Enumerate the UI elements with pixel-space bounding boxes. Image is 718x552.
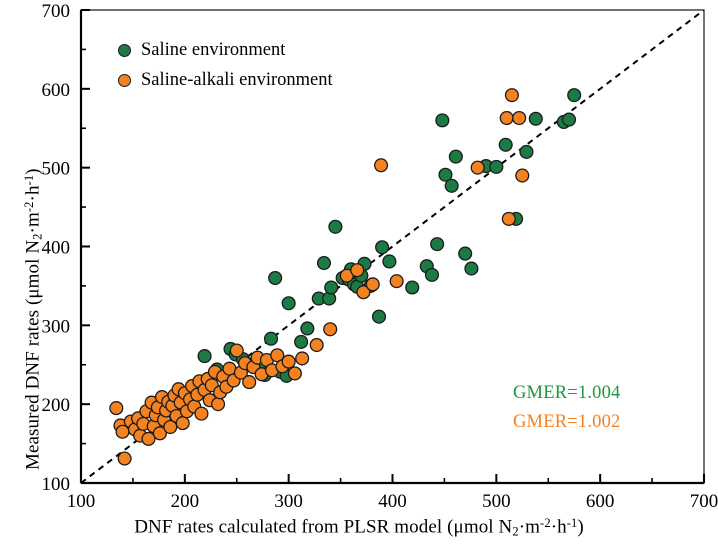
y-axis-title-sub-n2: 2 <box>30 233 44 239</box>
data-point <box>195 407 208 420</box>
y-tick-label: 200 <box>42 395 71 416</box>
series-points-saline <box>198 89 580 382</box>
data-point <box>282 297 295 310</box>
x-tick-label: 500 <box>482 491 511 512</box>
data-point <box>288 367 301 380</box>
y-axis-title-sup-h: -1 <box>22 175 36 186</box>
legend-label-saline: Saline environment <box>141 41 285 60</box>
x-axis-title-tail: ) <box>577 517 583 538</box>
annotation-gmer-saline-alkali: GMER=1.002 <box>513 412 621 433</box>
x-axis-title-main: DNF rates calculated from PLSR model (μm… <box>134 517 512 538</box>
x-axis-title-mid: ·m <box>519 517 540 538</box>
data-point <box>406 281 419 294</box>
data-point <box>351 264 364 277</box>
y-tick-label: 500 <box>42 159 71 180</box>
legend-item-saline-alkali: Saline-alkali environment <box>118 71 333 90</box>
data-point <box>324 323 337 336</box>
data-point <box>506 89 519 102</box>
data-point <box>282 355 295 368</box>
data-point <box>176 417 189 430</box>
x-tick-label: 400 <box>378 491 407 512</box>
data-point <box>431 238 444 251</box>
data-point <box>318 257 331 270</box>
legend-marker-saline-alkali-icon <box>118 74 131 87</box>
legend-label-saline-alkali: Saline-alkali environment <box>141 71 333 90</box>
y-tick-label: 600 <box>42 80 71 101</box>
x-tick-label: 700 <box>690 491 718 512</box>
y-axis-title-mid: ·m <box>23 212 44 233</box>
x-axis-title-mid2: ·h <box>551 517 567 538</box>
data-point <box>513 112 526 125</box>
y-tick-label: 100 <box>42 474 71 495</box>
data-point <box>296 352 309 365</box>
data-point <box>110 402 123 415</box>
data-point <box>366 278 379 291</box>
legend-item-saline: Saline environment <box>118 41 285 60</box>
data-point <box>265 332 278 345</box>
x-tick-label: 200 <box>171 491 200 512</box>
data-point <box>520 146 533 159</box>
y-axis-title-tail: ) <box>23 168 44 174</box>
y-axis-title-main: Measured DNF rates (μmol N <box>23 240 44 470</box>
data-point <box>502 213 515 226</box>
y-tick-label: 300 <box>42 316 71 337</box>
data-point <box>465 262 478 275</box>
data-point <box>516 169 529 182</box>
data-point <box>436 114 449 127</box>
data-point <box>490 160 503 173</box>
data-point <box>295 335 308 348</box>
data-point <box>529 112 542 125</box>
data-point <box>471 161 484 174</box>
data-point <box>376 241 389 254</box>
data-point <box>212 398 225 411</box>
data-point <box>329 220 342 233</box>
y-axis-title: Measured DNF rates (μmol N2·m-2·h-1) <box>22 168 45 470</box>
legend-marker-saline-icon <box>118 44 131 57</box>
x-tick-label: 100 <box>67 491 96 512</box>
data-point <box>568 89 581 102</box>
x-axis-title-sup-m: -2 <box>540 516 551 530</box>
y-axis-title-mid2: ·h <box>23 185 44 201</box>
data-point <box>563 113 576 126</box>
x-axis-title: DNF rates calculated from PLSR model (μm… <box>0 516 718 539</box>
data-point <box>459 247 472 260</box>
data-point <box>243 376 256 389</box>
data-point <box>390 275 403 288</box>
scatter-plot-figure: 1002003004005006007001002003004005006007… <box>0 0 718 552</box>
data-point <box>198 350 211 363</box>
x-axis-title-sup-h: -1 <box>567 516 578 530</box>
data-point <box>449 150 462 163</box>
x-tick-label: 600 <box>586 491 615 512</box>
plot-canvas: 1002003004005006007001002003004005006007… <box>0 0 718 552</box>
annotation-gmer-saline: GMER=1.004 <box>513 383 621 404</box>
y-tick-label: 700 <box>42 1 71 22</box>
data-point <box>375 159 388 172</box>
data-point <box>310 339 323 352</box>
data-point <box>445 179 458 192</box>
x-tick-label: 300 <box>274 491 303 512</box>
data-point <box>301 322 314 335</box>
y-axis-title-sup-m: -2 <box>22 201 36 212</box>
series-points-saline-alkali <box>110 89 529 465</box>
y-tick-label: 400 <box>42 238 71 259</box>
data-point <box>426 268 439 281</box>
data-point <box>499 138 512 151</box>
data-point <box>500 112 513 125</box>
data-point <box>118 452 131 465</box>
data-point <box>325 281 338 294</box>
data-point <box>269 272 282 285</box>
data-point <box>230 344 243 357</box>
data-point <box>383 255 396 268</box>
data-point <box>373 310 386 323</box>
